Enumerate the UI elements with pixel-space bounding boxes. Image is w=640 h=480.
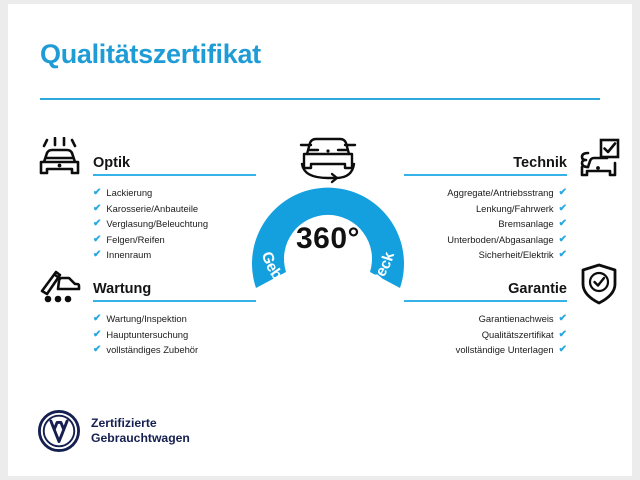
list-item-label: Bremsanlage [498,216,553,232]
section-divider-garantie [404,300,567,302]
check-icon: ✔ [93,311,101,327]
list-item-label: Unterboden/Abgasanlage [447,232,553,248]
check-icon: ✔ [559,185,567,201]
page-title: Qualitätszertifikat [40,39,261,70]
list-item-label: vollständiges Zubehör [106,342,198,358]
list-item-label: Aggregate/Antriebsstrang [447,185,553,201]
check-icon: ✔ [93,247,101,263]
list-item: Qualitätszertifikat✔ [404,327,567,343]
footer-brand: Zertifizierte Gebrauchtwagen [38,410,190,452]
list-item-label: Lackierung [106,185,152,201]
section-title-technik: Technik [513,155,567,171]
list-item-label: Innenraum [106,247,151,263]
list-item-label: Hauptuntersuchung [106,327,188,343]
section-title-garantie: Garantie [508,281,567,297]
check-icon: ✔ [559,232,567,248]
footer-line-1: Zertifizierte [91,416,190,431]
list-item-label: Sicherheit/Elektrik [479,247,554,263]
check-icon: ✔ [559,327,567,343]
footer-line-2: Gebrauchtwagen [91,431,190,446]
title-divider [40,98,600,100]
list-item: Aggregate/Antriebsstrang✔ [404,185,567,201]
checklist-technik: Aggregate/Antriebsstrang✔Lenkung/Fahrwer… [404,185,567,263]
list-item-label: Verglasung/Beleuchtung [106,216,208,232]
section-title-wartung: Wartung [93,281,151,297]
list-item-label: Wartung/Inspektion [106,311,186,327]
list-item: Bremsanlage✔ [404,216,567,232]
section-divider-technik [404,174,567,176]
list-item: ✔Hauptuntersuchung [93,327,256,343]
check-icon: ✔ [559,342,567,358]
check-icon: ✔ [93,327,101,343]
check-icon: ✔ [93,232,101,248]
section-title-optik: Optik [93,155,130,171]
check-icon: ✔ [559,311,567,327]
list-item: Lenkung/Fahrwerk✔ [404,201,567,217]
check-icon: ✔ [559,201,567,217]
car-service-tools-icon [36,263,82,310]
car-checkbox-icon [574,137,620,184]
check-icon: ✔ [559,247,567,263]
certificate-page: Qualitätszertifikat [8,4,632,476]
list-item-label: Felgen/Reifen [106,232,164,248]
list-item: ✔vollständiges Zubehör [93,342,256,358]
list-item-label: Lenkung/Fahrwerk [476,201,554,217]
check-icon: ✔ [93,342,101,358]
checklist-garantie: Garantienachweis✔Qualitätszertifikat✔vol… [404,311,567,358]
check-icon: ✔ [93,185,101,201]
checklist-wartung: ✔Wartung/Inspektion✔Hauptuntersuchung✔vo… [93,311,256,358]
footer-brand-text: Zertifizierte Gebrauchtwagen [91,416,190,446]
list-item-label: Qualitätszertifikat [482,327,554,343]
list-item-label: Karosserie/Anbauteile [106,201,198,217]
badge-degree-label: 360° [230,222,426,256]
check-icon: ✔ [559,216,567,232]
list-item-label: vollständige Unterlagen [456,342,554,358]
check-icon: ✔ [93,201,101,217]
section-technik: TechnikAggregate/Antriebsstrang✔Lenkung/… [404,150,567,263]
badge-360-gebrauchtwagen-check: Gebrauchtwagen-Check 360° [230,126,426,314]
list-item: Garantienachweis✔ [404,311,567,327]
section-garantie: GarantieGarantienachweis✔Qualitätszertif… [404,276,567,358]
list-item-label: Garantienachweis [479,311,554,327]
volkswagen-logo [38,410,80,452]
list-item: Unterboden/Abgasanlage✔ [404,232,567,248]
shield-check-icon [580,263,618,310]
list-item: Sicherheit/Elektrik✔ [404,247,567,263]
list-item: vollständige Unterlagen✔ [404,342,567,358]
check-icon: ✔ [93,216,101,232]
car-shine-icon [36,137,82,184]
